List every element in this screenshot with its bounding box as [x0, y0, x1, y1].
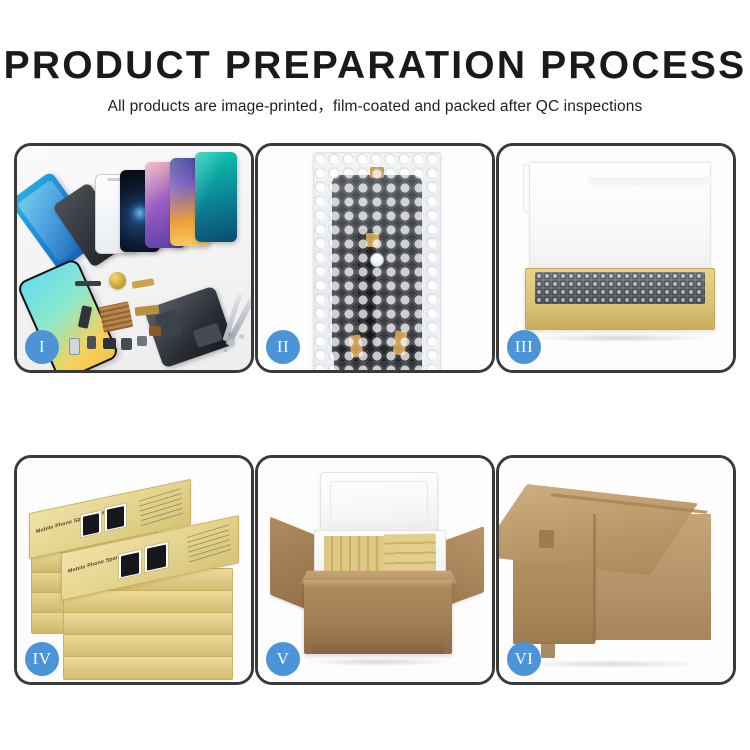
carton-tape-lower-icon — [541, 642, 555, 658]
carton-front-icon — [304, 580, 452, 654]
step-panel-2: II — [255, 143, 495, 373]
foam-sheet-icon — [535, 198, 703, 276]
teal-phone-icon — [195, 152, 237, 242]
step-badge-5: V — [266, 642, 300, 676]
step-panel-1: I — [14, 143, 254, 373]
carton-tape-upper-icon — [539, 530, 554, 548]
step-panel-3: III — [496, 143, 736, 373]
step-badge-1: I — [25, 330, 59, 364]
process-steps-grid: I II — [14, 143, 736, 675]
camera-lens-icon — [109, 272, 126, 289]
step-badge-2: II — [266, 330, 300, 364]
step-panel-4: Mobile Phone Spare Parts Mobile Phone Sp… — [14, 455, 254, 685]
product-preparation-infographic: PRODUCT PREPARATION PROCESS All products… — [0, 0, 750, 750]
foam-box-lid-icon — [320, 472, 438, 538]
step-panel-5: V — [255, 455, 495, 685]
step-badge-4: IV — [25, 642, 59, 676]
bubble-bag-icon — [313, 152, 441, 370]
header: PRODUCT PREPARATION PROCESS All products… — [0, 0, 750, 117]
page-subtitle: All products are image-printed，film-coat… — [0, 88, 750, 117]
screws-icon — [228, 339, 235, 346]
page-title: PRODUCT PREPARATION PROCESS — [0, 0, 750, 88]
step-badge-3: III — [507, 330, 541, 364]
step-badge-6: VI — [507, 642, 541, 676]
step-panel-6: VI — [496, 455, 736, 685]
bubble-wrap-fill-icon — [535, 272, 705, 304]
